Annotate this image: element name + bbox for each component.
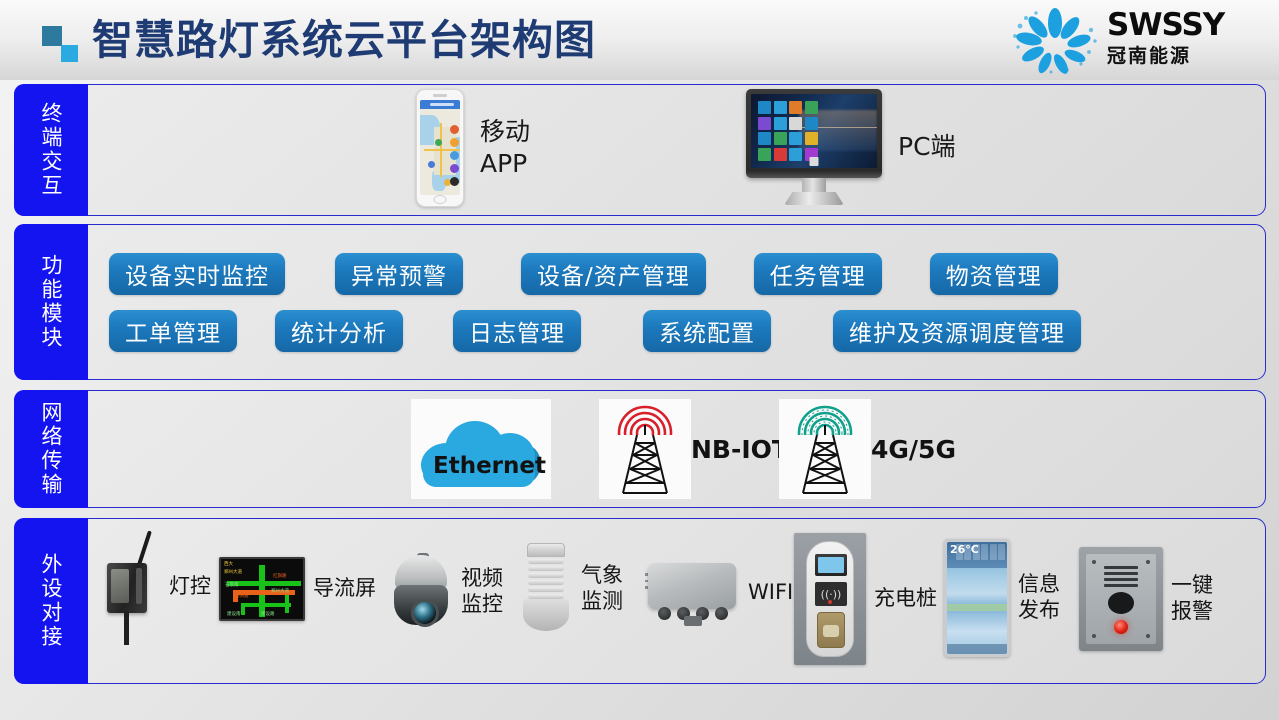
led-guidance-screen-icon: 西大 郑州大道 石景南 红旗路 郑州大道 济阳路 建设南 建设路 [219,557,305,621]
function-button-device-monitoring[interactable]: 设备实时监控 [109,253,285,295]
section-label-terminal: 终端交互 [14,84,88,216]
water-droplet-mandala-icon [1007,6,1103,74]
device-item-weather-monitor[interactable]: 气象 监测 [519,541,623,637]
charging-pile-icon: ((·)) [794,533,866,665]
network-label-ethernet: Ethernet [433,453,546,479]
dome-camera-icon [389,553,453,631]
section-body-terminal: 移动 APP [89,85,1265,215]
device-item-guidance-screen[interactable]: 西大 郑州大道 石景南 红旗路 郑州大道 济阳路 建设南 建设路 导流屏 [219,557,376,621]
square-light-icon [61,45,78,62]
desktop-monitor-icon [746,89,882,205]
function-button-material-management[interactable]: 物资管理 [930,253,1058,295]
network-item-ethernet[interactable]: Ethernet [411,399,551,499]
device-item-one-key-alarm[interactable]: 一键 报警 [1079,547,1213,651]
function-button-task-management[interactable]: 任务管理 [754,253,882,295]
function-button-log-management[interactable]: 日志管理 [453,310,581,352]
slide-header: 智慧路灯系统云平台架构图 [0,0,1279,80]
info-display-screen-icon: 26°C [944,539,1010,657]
section-terminal-interaction: 终端交互 [14,84,1266,216]
section-body-network: Ethernet [89,391,1265,507]
section-function-modules: 功能模块 设备实时监控 异常预警 设备/资产管理 任务管理 物资管理 工单管理 … [14,224,1266,380]
function-button-statistics[interactable]: 统计分析 [275,310,403,352]
section-network-transmission: 网络传输 Ethernet [14,390,1266,508]
device-item-charging-pile[interactable]: ((·)) 充电桩 [794,533,937,665]
section-peripheral-devices: 外设对接 灯控 [14,518,1266,684]
function-button-abnormal-alert[interactable]: 异常预警 [335,253,463,295]
square-dark-icon [42,26,62,46]
section-label-function: 功能模块 [14,224,88,380]
radio-tower-teal-icon [779,399,871,499]
function-button-work-order[interactable]: 工单管理 [109,310,237,352]
device-label-weather-monitor: 气象 监测 [581,563,623,614]
brand-subtitle: 冠南能源 [1107,43,1263,69]
device-label-lamp-controller: 灯控 [169,574,211,600]
company-logo: SWSSY 冠南能源 [1007,4,1267,76]
terminal-item-pc[interactable]: PC端 [746,89,956,205]
cloud-icon: Ethernet [411,399,551,499]
brand-text-block: SWSSY 冠南能源 [1107,8,1263,69]
network-item-nbiot[interactable]: NB-IOT [599,399,789,499]
lamp-controller-icon [99,527,161,647]
page-title: 智慧路灯系统云平台架构图 [92,12,596,68]
terminal-label-mobile-app: 移动 APP [480,116,530,180]
function-button-asset-management[interactable]: 设备/资产管理 [521,253,706,295]
device-item-video-surveillance[interactable]: 视频 监控 [389,553,503,631]
network-label-nbiot: NB-IOT [691,435,789,464]
device-label-guidance-screen: 导流屏 [313,576,376,602]
device-label-video-surveillance: 视频 监控 [461,566,503,617]
section-body-device: 灯控 西大 郑州大道 石景南 红旗路 [89,519,1265,683]
section-label-device: 外设对接 [14,518,88,684]
device-item-wifi[interactable]: WIFI [644,559,793,627]
network-item-4g5g[interactable]: 4G/5G [779,399,956,499]
function-button-maintenance-dispatch[interactable]: 维护及资源调度管理 [833,310,1081,352]
smartphone-map-icon [416,89,464,207]
terminal-item-mobile-app[interactable]: 移动 APP [416,89,530,207]
section-label-network: 网络传输 [14,390,88,508]
device-item-lamp-controller[interactable]: 灯控 [99,527,211,647]
network-label-4g5g: 4G/5G [871,435,956,464]
terminal-label-pc: PC端 [898,131,956,163]
device-label-wifi: WIFI [748,580,793,606]
device-item-info-release[interactable]: 26°C 信息 发布 [944,539,1060,657]
radio-tower-red-icon [599,399,691,499]
wifi-enclosure-icon [644,559,740,627]
device-label-one-key-alarm: 一键 报警 [1171,573,1213,624]
device-label-info-release: 信息 发布 [1018,572,1060,623]
architecture-slide: 智慧路灯系统云平台架构图 [0,0,1279,720]
function-button-system-config[interactable]: 系统配置 [643,310,771,352]
brand-name: SWSSY [1107,8,1263,42]
device-label-charging-pile: 充电桩 [874,586,937,612]
weather-station-icon [519,541,573,637]
title-decoration-squares [42,26,84,62]
alarm-call-box-icon [1079,547,1163,651]
function-button-row-1: 设备实时监控 异常预警 设备/资产管理 任务管理 物资管理 [109,253,1247,295]
function-button-row-2: 工单管理 统计分析 日志管理 系统配置 维护及资源调度管理 [109,310,1247,352]
section-body-function: 设备实时监控 异常预警 设备/资产管理 任务管理 物资管理 工单管理 统计分析 … [89,225,1265,379]
